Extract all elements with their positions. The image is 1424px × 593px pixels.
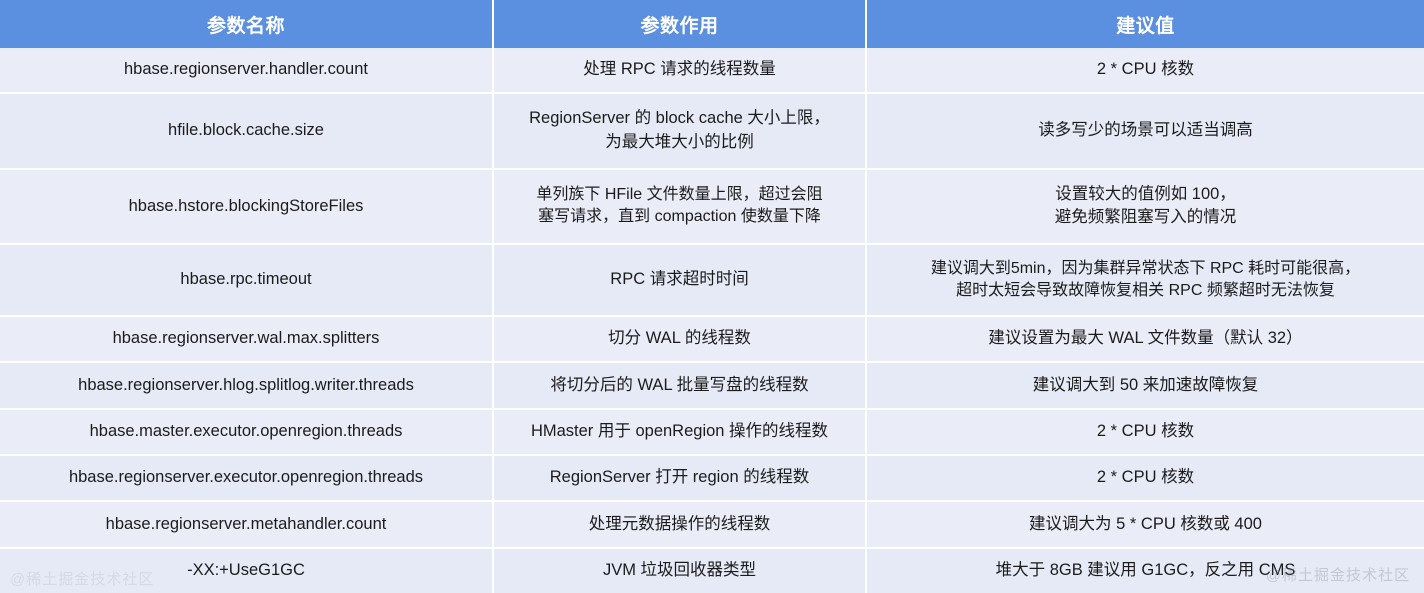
- cell-param-name: hfile.block.cache.size: [0, 93, 493, 169]
- cell-param-purpose: RPC 请求超时时间: [493, 244, 866, 316]
- cell-param-name: hbase.regionserver.executor.openregion.t…: [0, 455, 493, 501]
- cell-param-purpose: HMaster 用于 openRegion 操作的线程数: [493, 409, 866, 455]
- cell-param-purpose: 处理元数据操作的线程数: [493, 501, 866, 547]
- cell-param-name: hbase.master.executor.openregion.threads: [0, 409, 493, 455]
- header-row: 参数名称 参数作用 建议值: [0, 0, 1424, 48]
- column-header-recommended-value: 建议值: [866, 0, 1424, 48]
- cell-recommended-value: 建议调大为 5 * CPU 核数或 400: [866, 501, 1424, 547]
- cell-recommended-value: 建议调大到 50 来加速故障恢复: [866, 362, 1424, 408]
- table-body: hbase.regionserver.handler.count 处理 RPC …: [0, 48, 1424, 593]
- cell-recommended-value: 读多写少的场景可以适当调高: [866, 93, 1424, 169]
- table-row: hfile.block.cache.size RegionServer 的 bl…: [0, 93, 1424, 169]
- table-row: hbase.regionserver.hlog.splitlog.writer.…: [0, 362, 1424, 408]
- cell-param-purpose: RegionServer 打开 region 的线程数: [493, 455, 866, 501]
- table-row: hbase.regionserver.wal.max.splitters 切分 …: [0, 316, 1424, 362]
- cell-param-name: hbase.regionserver.wal.max.splitters: [0, 316, 493, 362]
- cell-param-name: hbase.regionserver.metahandler.count: [0, 501, 493, 547]
- cell-recommended-value: 2 * CPU 核数: [866, 48, 1424, 93]
- cell-param-purpose: 切分 WAL 的线程数: [493, 316, 866, 362]
- cell-recommended-value: 建议调大到5min，因为集群异常状态下 RPC 耗时可能很高， 超时太短会导致故…: [866, 244, 1424, 316]
- cell-param-name: -XX:+UseG1GC: [0, 548, 493, 593]
- cell-param-purpose: JVM 垃圾回收器类型: [493, 548, 866, 593]
- cell-recommended-value: 堆大于 8GB 建议用 G1GC，反之用 CMS: [866, 548, 1424, 593]
- cell-param-purpose: 单列族下 HFile 文件数量上限，超过会阻 塞写请求，直到 compactio…: [493, 169, 866, 245]
- cell-param-purpose: 将切分后的 WAL 批量写盘的线程数: [493, 362, 866, 408]
- table-header: 参数名称 参数作用 建议值: [0, 0, 1424, 48]
- table-row: hbase.hstore.blockingStoreFiles 单列族下 HFi…: [0, 169, 1424, 245]
- column-header-param-purpose: 参数作用: [493, 0, 866, 48]
- parameter-table: 参数名称 参数作用 建议值 hbase.regionserver.handler…: [0, 0, 1424, 593]
- table-row: hbase.regionserver.handler.count 处理 RPC …: [0, 48, 1424, 93]
- column-header-param-name: 参数名称: [0, 0, 493, 48]
- cell-param-purpose: RegionServer 的 block cache 大小上限， 为最大堆大小的…: [493, 93, 866, 169]
- cell-recommended-value: 设置较大的值例如 100， 避免频繁阻塞写入的情况: [866, 169, 1424, 245]
- cell-param-name: hbase.rpc.timeout: [0, 244, 493, 316]
- table-row: hbase.regionserver.metahandler.count 处理元…: [0, 501, 1424, 547]
- cell-param-purpose: 处理 RPC 请求的线程数量: [493, 48, 866, 93]
- cell-param-name: hbase.hstore.blockingStoreFiles: [0, 169, 493, 245]
- table-row: -XX:+UseG1GC JVM 垃圾回收器类型 堆大于 8GB 建议用 G1G…: [0, 548, 1424, 593]
- table-row: hbase.rpc.timeout RPC 请求超时时间 建议调大到5min，因…: [0, 244, 1424, 316]
- table-row: hbase.master.executor.openregion.threads…: [0, 409, 1424, 455]
- cell-recommended-value: 建议设置为最大 WAL 文件数量（默认 32）: [866, 316, 1424, 362]
- cell-param-name: hbase.regionserver.hlog.splitlog.writer.…: [0, 362, 493, 408]
- cell-param-name: hbase.regionserver.handler.count: [0, 48, 493, 93]
- cell-recommended-value: 2 * CPU 核数: [866, 455, 1424, 501]
- cell-recommended-value: 2 * CPU 核数: [866, 409, 1424, 455]
- table-row: hbase.regionserver.executor.openregion.t…: [0, 455, 1424, 501]
- parameter-table-container: 参数名称 参数作用 建议值 hbase.regionserver.handler…: [0, 0, 1424, 593]
